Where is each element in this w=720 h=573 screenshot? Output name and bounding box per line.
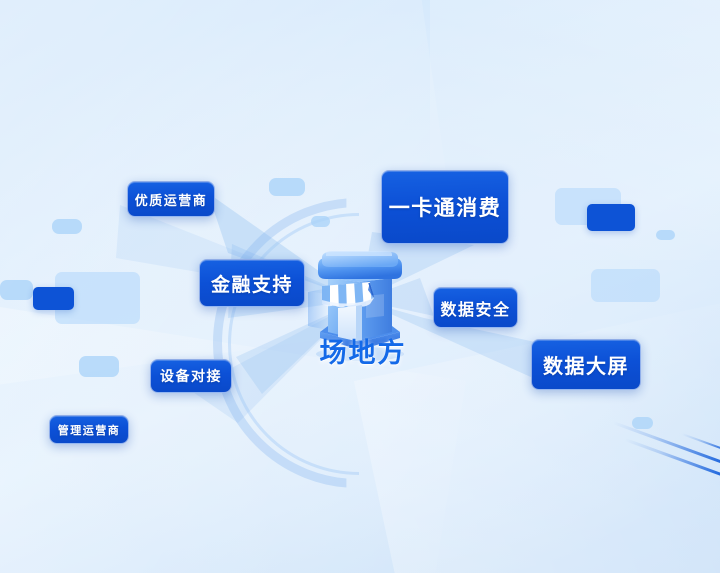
deco-rect-right-tiny	[656, 230, 675, 240]
chip-management-operator[interactable]: 管理运营商	[49, 415, 129, 444]
chip-data-security-label: 数据安全	[440, 296, 510, 320]
background-wash-bottom-right	[354, 285, 720, 573]
chip-data-dashboard-label: 数据大屏	[543, 350, 629, 379]
streak-line-2	[624, 438, 720, 477]
deco-rect-left-large	[55, 272, 140, 324]
streak-line-1	[612, 421, 720, 465]
chip-device-docking[interactable]: 设备对接	[150, 359, 232, 393]
chip-financial-support-label: 金融支持	[211, 270, 293, 297]
chip-one-card-payment-label: 一卡通消费	[389, 192, 502, 222]
chip-quality-operator[interactable]: 优质运营商	[127, 181, 215, 217]
deco-rect-right-pale	[555, 188, 621, 225]
chip-data-security[interactable]: 数据安全	[433, 287, 518, 328]
chip-management-operator-label: 管理运营商	[58, 422, 121, 438]
chip-device-docking-label: 设备对接	[160, 366, 222, 386]
chip-financial-support[interactable]: 金融支持	[199, 259, 305, 307]
hub-label: 场地方	[283, 331, 443, 370]
deco-rect-right-large	[591, 269, 660, 302]
deco-rect-left-lower	[79, 356, 119, 377]
deco-rect-left-mid	[0, 280, 33, 300]
deco-rect-center-small	[311, 216, 330, 227]
chip-one-card-payment[interactable]: 一卡通消费	[381, 170, 509, 244]
deco-rect-bottom-right	[632, 417, 653, 429]
ecosystem-diagram-canvas: 场地方 优质运营商金融支持设备对接管理运营商一卡通消费数据安全数据大屏	[0, 0, 720, 573]
streak-line-3	[682, 433, 720, 451]
deco-rect-left-small	[52, 219, 82, 234]
deco-rect-left-solid	[33, 287, 74, 310]
chip-data-dashboard[interactable]: 数据大屏	[531, 339, 641, 390]
deco-rect-center-upper	[269, 178, 305, 196]
radiating-beams-layer	[0, 0, 720, 573]
beam-to-data-security	[360, 278, 434, 316]
chip-quality-operator-label: 优质运营商	[135, 190, 208, 209]
deco-rect-right-solid	[587, 204, 635, 231]
